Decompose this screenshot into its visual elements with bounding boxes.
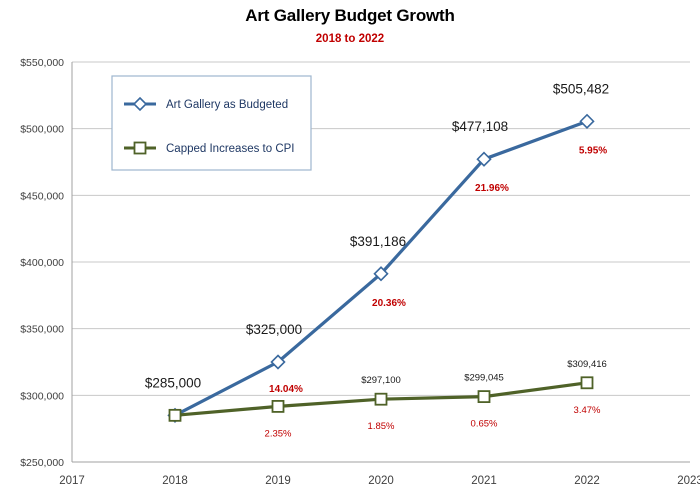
data-point-marker: [479, 391, 490, 402]
x-axis-tick-label: 2022: [574, 475, 600, 487]
growth-label-budgeted: 21.96%: [475, 183, 509, 194]
y-axis-tick-label: $400,000: [20, 257, 64, 269]
growth-label-budgeted: 14.04%: [269, 384, 303, 395]
value-label-cpi: $297,100: [361, 375, 401, 386]
y-axis-tick-labels: $250,000$300,000$350,000$400,000$450,000…: [20, 57, 64, 469]
y-axis-tick-label: $500,000: [20, 124, 64, 136]
growth-label-budgeted: 5.95%: [579, 145, 607, 156]
legend-marker-square: [135, 143, 146, 154]
data-point-marker: [376, 394, 387, 405]
chart-legend: Art Gallery as BudgetedCapped Increases …: [112, 76, 311, 170]
growth-label-cpi: 0.65%: [471, 419, 498, 430]
y-axis-tick-label: $300,000: [20, 390, 64, 402]
value-label-cpi: $299,045: [464, 373, 504, 384]
x-axis-tick-label: 2023: [677, 475, 700, 487]
y-axis-tick-label: $250,000: [20, 457, 64, 469]
x-axis-tick-label: 2020: [368, 475, 394, 487]
value-label-budgeted: $477,108: [452, 119, 508, 134]
legend-item-label: Art Gallery as Budgeted: [166, 99, 288, 111]
y-axis-tick-label: $350,000: [20, 324, 64, 336]
value-label-budgeted: $285,000: [145, 375, 201, 390]
growth-label-budgeted: 20.36%: [372, 298, 406, 309]
legend-box: [112, 76, 311, 170]
growth-label-cpi: 1.85%: [368, 421, 395, 432]
x-axis-tick-label: 2021: [471, 475, 497, 487]
x-axis-tick-labels: 2017201820192020202120222023: [59, 475, 700, 487]
y-axis-tick-label: $450,000: [20, 190, 64, 202]
value-label-cpi: $309,416: [567, 359, 607, 370]
value-label-budgeted: $505,482: [553, 81, 609, 96]
growth-label-cpi: 3.47%: [574, 405, 601, 416]
x-axis-tick-label: 2018: [162, 475, 188, 487]
data-point-marker: [582, 377, 593, 388]
data-point-marker: [273, 401, 284, 412]
x-axis-tick-label: 2019: [265, 475, 291, 487]
value-label-budgeted: $325,000: [246, 322, 302, 337]
growth-label-cpi: 2.35%: [265, 428, 292, 439]
data-point-marker: [170, 410, 181, 421]
x-axis-tick-label: 2017: [59, 475, 85, 487]
legend-item-label: Capped Increases to CPI: [166, 143, 295, 155]
data-point-marker: [581, 115, 594, 128]
plot-area: $250,000$300,000$350,000$400,000$450,000…: [0, 0, 700, 503]
y-axis-tick-label: $550,000: [20, 57, 64, 69]
value-label-budgeted: $391,186: [350, 234, 406, 249]
chart-container: Art Gallery Budget Growth 2018 to 2022 $…: [0, 0, 700, 503]
